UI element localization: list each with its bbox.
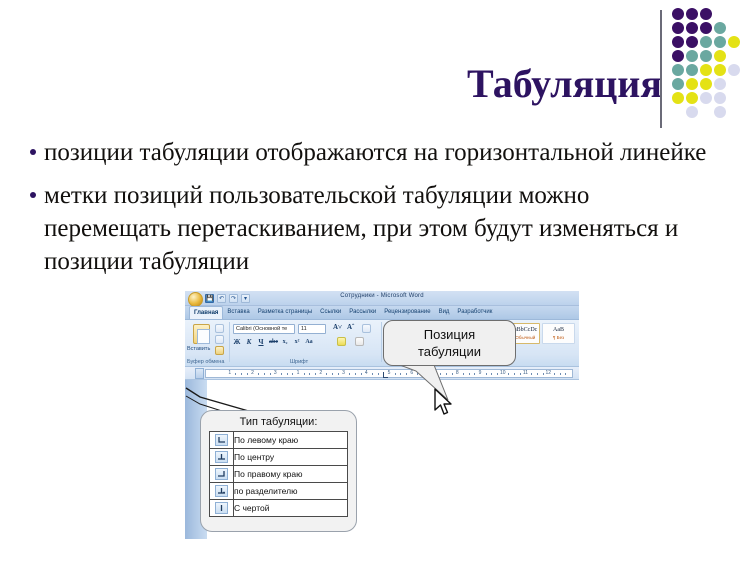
ruler-tick [281, 373, 282, 375]
ruler-tick [520, 373, 521, 375]
ribbon-tab-ссылки[interactable]: Ссылки [316, 306, 345, 319]
ruler-tick [315, 373, 316, 375]
ruler-number: 2 [251, 370, 254, 376]
decorative-dot [700, 8, 712, 20]
decorative-dot [672, 22, 684, 34]
paste-icon[interactable] [193, 324, 210, 344]
ruler-tick [264, 373, 265, 375]
ruler-tick [565, 373, 566, 375]
ruler-tick [270, 373, 271, 375]
ruler-tick [474, 373, 475, 375]
ruler-number: 3 [274, 370, 277, 376]
decorative-dot [700, 64, 712, 76]
ruler-number: 11 [523, 370, 528, 376]
table-row[interactable]: По центру [210, 449, 348, 466]
decorative-dot [686, 92, 698, 104]
ruler-tick [355, 373, 356, 375]
group-divider [229, 322, 230, 362]
copy-icon[interactable] [215, 335, 224, 344]
decorative-dot [700, 50, 712, 62]
ribbon-tab-вид[interactable]: Вид [435, 306, 454, 319]
ribbon-tab-разработчик[interactable]: Разработчик [453, 306, 496, 319]
ruler-tick [543, 373, 544, 375]
tab-type-icon-cell [210, 466, 234, 483]
ribbon-tab-рассылки[interactable]: Рассылки [345, 306, 380, 319]
table-row[interactable]: С чертой [210, 500, 348, 517]
tab-bar-icon[interactable] [215, 502, 228, 514]
decorative-dot [714, 64, 726, 76]
callout-text: Позиция табуляции [418, 326, 481, 360]
decorative-dot [728, 64, 740, 76]
ribbon-body: Вставить Буфер обмена Calibri (Основной … [185, 320, 579, 367]
clear-formatting-icon[interactable] [362, 324, 371, 333]
office-orb-icon[interactable] [188, 292, 203, 307]
ruler-tick [469, 373, 470, 375]
change-case-icon[interactable]: Aa [305, 339, 313, 345]
tab-type-icon-cell [210, 500, 234, 517]
grow-font-icon[interactable]: A˅ [333, 323, 342, 331]
decorative-dot [714, 78, 726, 90]
style-card[interactable]: AaB¶ Без [542, 323, 575, 344]
tab-type-label: С чертой [234, 500, 348, 517]
ruler-tick [338, 373, 339, 375]
ruler-tick [349, 373, 350, 375]
decorative-dot [714, 36, 726, 48]
ruler-tick [332, 373, 333, 375]
decorative-dot [700, 36, 712, 48]
tab-center-icon[interactable] [215, 451, 228, 463]
title-area: Табуляция [0, 0, 750, 128]
decorative-dot [686, 78, 698, 90]
ruler-number: 9 [479, 370, 482, 376]
horizontal-ruler[interactable]: 123123456789101112 [185, 367, 579, 380]
bold-icon[interactable]: Ж [233, 338, 241, 346]
text-highlight-icon[interactable] [337, 337, 346, 346]
ribbon-tab-strip[interactable]: ГлавнаяВставкаРазметка страницыСсылкиРас… [185, 306, 579, 320]
decorative-dot [686, 50, 698, 62]
ruler-tick [395, 373, 396, 375]
ruler-number: 3 [342, 370, 345, 376]
ruler-tick [486, 373, 487, 375]
decorative-dot [700, 22, 712, 34]
ruler-tick [235, 373, 236, 375]
ruler-tick [537, 373, 538, 375]
italic-icon[interactable]: К [245, 338, 253, 346]
undo-icon[interactable]: ↶ [217, 294, 226, 303]
tab-type-icon-cell [210, 449, 234, 466]
tab-type-label: По центру [234, 449, 348, 466]
bullet-list: позиции табуляции отображаются на горизо… [22, 136, 722, 288]
cut-icon[interactable] [215, 324, 224, 333]
ribbon-tab-главная[interactable]: Главная [189, 306, 223, 319]
decorative-dot [700, 92, 712, 104]
decorative-dot [686, 8, 698, 20]
ruler-tick [258, 373, 259, 375]
subscript-icon[interactable]: x₂ [281, 339, 289, 345]
ribbon-tab-вставка[interactable]: Вставка [223, 306, 253, 319]
tab-right-icon[interactable] [215, 468, 228, 480]
style-sample: AaB [553, 327, 564, 334]
bullet-marker-icon [22, 136, 44, 157]
ruler-number: 2 [319, 370, 322, 376]
decorative-dot [672, 64, 684, 76]
ruler-tick [531, 373, 532, 375]
ruler-tick [326, 373, 327, 375]
tab-type-icon-cell [210, 432, 234, 449]
tab-types-table: По левому краюПо центруПо правому краюпо… [209, 431, 348, 517]
ruler-numbers: 123123456789101112 [207, 369, 571, 378]
font-size-input[interactable]: 11 [298, 324, 326, 334]
table-row[interactable]: По левому краю [210, 432, 348, 449]
slide: Табуляция позиции табуляции отображаются… [0, 0, 750, 561]
ruler-tick [304, 373, 305, 375]
tab-type-label: По левому краю [234, 432, 348, 449]
decorative-dot [672, 50, 684, 62]
format-painter-icon[interactable] [215, 346, 224, 355]
callout-tail-shape [398, 365, 468, 405]
callout-line-2: табуляции [418, 343, 481, 360]
ruler-tick [361, 373, 362, 375]
paste-button-label[interactable]: Вставить [187, 346, 210, 352]
table-row[interactable]: по разделителю [210, 483, 348, 500]
decorative-dot [686, 22, 698, 34]
panel-title: Тип табуляции: [209, 416, 348, 428]
tab-type-label: По правому краю [234, 466, 348, 483]
ruler-number: 4 [365, 370, 368, 376]
ruler-tick [241, 373, 242, 375]
font-color-icon[interactable] [355, 337, 364, 346]
panel-tab-types: Тип табуляции: По левому краюПо центруПо… [200, 410, 357, 532]
ribbon-tab-рецензирование[interactable]: Рецензирование [380, 306, 434, 319]
bullet-text: позиции табуляции отображаются на горизо… [44, 136, 706, 169]
styles-gallery[interactable]: AaBbCcDc¶ ОбычныйAaB¶ Без [507, 323, 575, 344]
decorative-dot [714, 50, 726, 62]
superscript-icon[interactable]: x² [293, 339, 301, 345]
dot-grid-decoration [672, 8, 748, 126]
callout-line-1: Позиция [418, 326, 481, 343]
decorative-dot [672, 36, 684, 48]
ruler-tick [554, 373, 555, 375]
ribbon-tab-разметка-страницы[interactable]: Разметка страницы [254, 306, 316, 319]
ruler-number: 10 [500, 370, 506, 376]
strikethrough-icon[interactable]: abc [269, 339, 277, 345]
list-item: метки позиций пользовательской табуляции… [22, 179, 722, 278]
list-item: позиции табуляции отображаются на горизо… [22, 136, 722, 169]
callout-tab-position: Позиция табуляции [383, 320, 516, 366]
decorative-dot [714, 22, 726, 34]
ruler-tick [560, 373, 561, 375]
bullet-marker-icon [22, 179, 44, 200]
tab-decimal-icon[interactable] [215, 485, 228, 497]
decorative-dot [686, 64, 698, 76]
ruler-tick [497, 373, 498, 375]
page-title: Табуляция [467, 62, 662, 106]
decorative-dot [672, 78, 684, 90]
clipboard-group-label: Буфер обмена [187, 359, 224, 365]
decorative-dot [714, 106, 726, 118]
save-icon[interactable]: 💾 [205, 294, 214, 303]
ruler-number: 1 [297, 370, 300, 376]
ruler-tick [514, 373, 515, 375]
decorative-dot [728, 36, 740, 48]
group-divider [381, 322, 382, 362]
underline-icon[interactable]: Ч [257, 338, 265, 346]
table-row[interactable]: По правому краю [210, 466, 348, 483]
ruler-tick [287, 373, 288, 375]
tab-type-label: по разделителю [234, 483, 348, 500]
indent-marker[interactable] [195, 368, 204, 379]
font-group-label: Шрифт [290, 359, 308, 365]
decorative-dot [672, 92, 684, 104]
tab-left-icon[interactable] [215, 434, 228, 446]
ruler-tick [292, 373, 293, 375]
decorative-dot [686, 106, 698, 118]
style-name: ¶ Без [553, 334, 564, 341]
bullet-text: метки позиций пользовательской табуляции… [44, 179, 722, 278]
ruler-tick [491, 373, 492, 375]
ruler-number: 5 [388, 370, 391, 376]
tab-stop-marker-icon[interactable] [383, 372, 388, 378]
decorative-dot [672, 8, 684, 20]
title-divider [660, 10, 662, 128]
redo-icon[interactable]: ↷ [229, 294, 238, 303]
ruler-number: 12 [545, 370, 551, 376]
decorative-dot [714, 92, 726, 104]
quick-access-toolbar[interactable]: 💾 ↶ ↷ ▾ [205, 293, 250, 304]
ruler-tick [378, 373, 379, 375]
decorative-dot [700, 78, 712, 90]
font-format-buttons[interactable]: Ж К Ч abc x₂ x² Aa [233, 338, 313, 346]
font-name-input[interactable]: Calibri (Основной те [233, 324, 295, 334]
tab-type-icon-cell [210, 483, 234, 500]
ruler-tick [309, 373, 310, 375]
ruler-tick [247, 373, 248, 375]
ruler-number: 1 [228, 370, 231, 376]
ruler-tick [372, 373, 373, 375]
ruler-tick [508, 373, 509, 375]
shrink-font-icon[interactable]: Aˆ [347, 323, 354, 331]
decorative-dot [686, 36, 698, 48]
customize-qat-icon[interactable]: ▾ [241, 294, 250, 303]
mouse-cursor-icon [434, 388, 456, 418]
